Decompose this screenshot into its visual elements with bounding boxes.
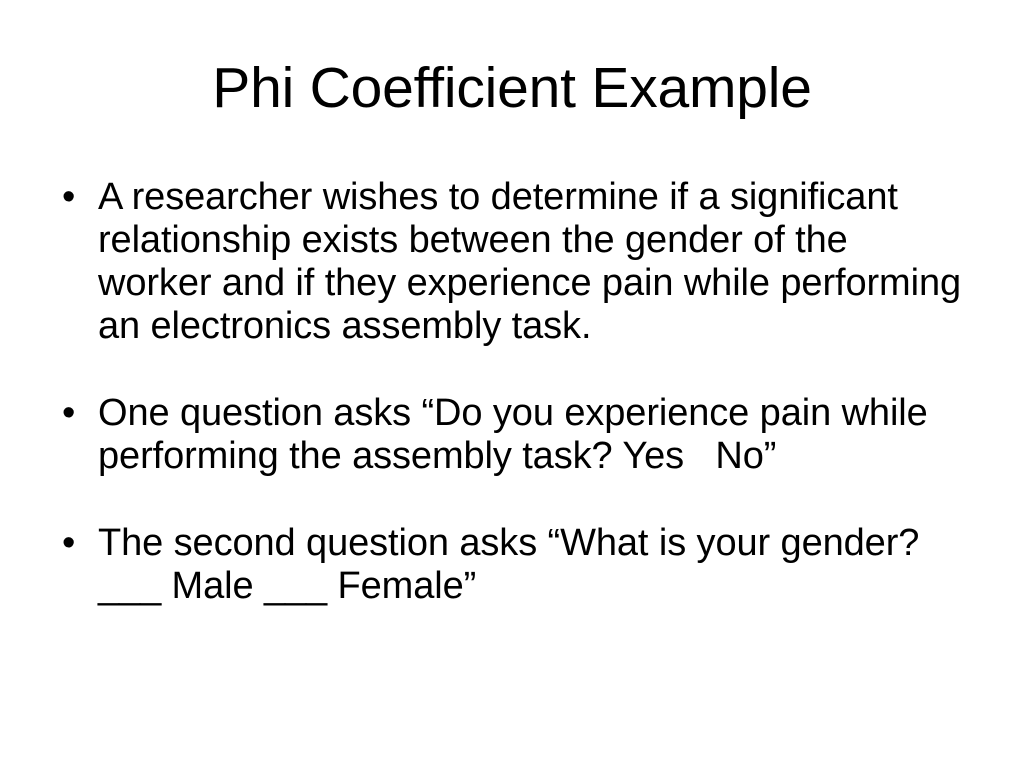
bullet-item-text: One question asks “Do you experience pai… [98, 392, 967, 478]
bullet-point-icon: • [62, 392, 98, 435]
bullet-list-item: • One question asks “Do you experience p… [62, 392, 967, 478]
bullet-item-text: A researcher wishes to determine if a si… [98, 176, 967, 348]
bullet-list-item: • A researcher wishes to determine if a … [62, 176, 967, 348]
bullet-list-item: • The second question asks “What is your… [62, 522, 967, 608]
bullet-point-icon: • [62, 176, 98, 219]
presentation-slide: Phi Coefficient Example • A researcher w… [0, 0, 1024, 768]
bullet-point-icon: • [62, 522, 98, 565]
bullet-item-text: The second question asks “What is your g… [98, 522, 967, 608]
slide-body-content: • A researcher wishes to determine if a … [62, 176, 967, 608]
slide-title: Phi Coefficient Example [60, 58, 964, 120]
